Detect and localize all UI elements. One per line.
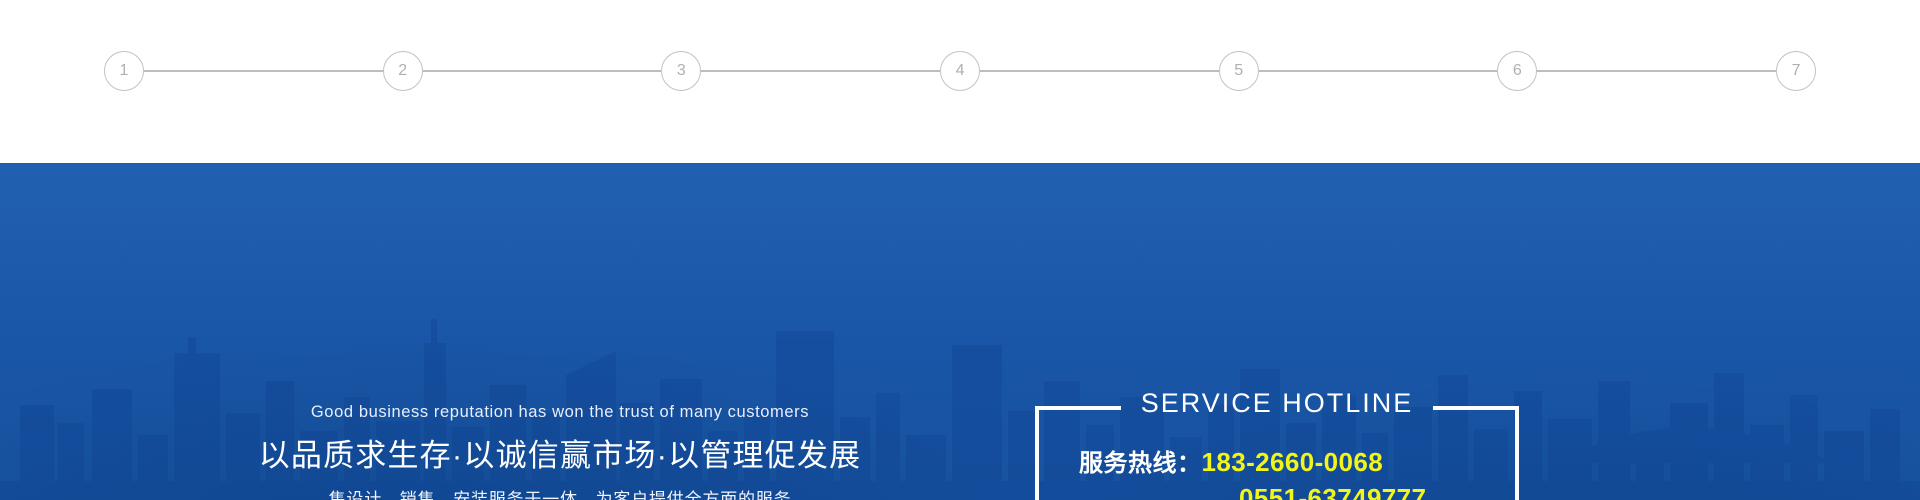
step-item-4[interactable]: 4 [940, 51, 980, 91]
hotline-phone-primary[interactable]: 183-2660-0068 [1202, 448, 1384, 478]
hotline-row-primary: 服务热线： 183-2660-0068 [1035, 448, 1519, 478]
step-item-6[interactable]: 6 [1497, 51, 1537, 91]
promo-banner: Good business reputation has won the tru… [0, 163, 1920, 500]
stepper-section: 1 2 3 4 5 6 7 [0, 0, 1920, 163]
step-connector-4 [980, 70, 1219, 72]
step-connector-6 [1537, 70, 1776, 72]
step-item-3[interactable]: 3 [661, 51, 701, 91]
slogan-chinese-main: 以品质求生存·以诚信赢市场·以管理促发展 [180, 437, 940, 476]
page-root: 1 2 3 4 5 6 7 [0, 0, 1920, 500]
slogan-block: Good business reputation has won the tru… [180, 403, 940, 500]
step-item-2[interactable]: 2 [383, 51, 423, 91]
step-item-7[interactable]: 7 [1776, 51, 1816, 91]
step-connector-2 [423, 70, 662, 72]
step-connector-5 [1259, 70, 1498, 72]
step-connector-3 [701, 70, 940, 72]
step-circle-1[interactable]: 1 [104, 51, 144, 91]
step-connector-1 [144, 70, 383, 72]
step-circle-2[interactable]: 2 [383, 51, 423, 91]
hotline-label: 服务热线： [1079, 450, 1202, 478]
step-item-5[interactable]: 5 [1219, 51, 1259, 91]
step-circle-3[interactable]: 3 [661, 51, 701, 91]
hotline-phone-secondary[interactable]: 0551-63749777 [1239, 484, 1426, 500]
step-item-1[interactable]: 1 [104, 51, 144, 91]
hotline-title: SERVICE HOTLINE [1035, 390, 1519, 417]
hotline-box: SERVICE HOTLINE 服务热线： 183-2660-0068 0551… [1035, 406, 1519, 500]
step-circle-6[interactable]: 6 [1497, 51, 1537, 91]
slogan-chinese-sub: 集设计、销售、安装服务于一体，为客户提供全方面的服务 [180, 490, 940, 500]
step-circle-4[interactable]: 4 [940, 51, 980, 91]
step-circle-7[interactable]: 7 [1776, 51, 1816, 91]
hotline-numbers: 服务热线： 183-2660-0068 0551-63749777 [1035, 448, 1519, 500]
step-circle-5[interactable]: 5 [1219, 51, 1259, 91]
slogan-english: Good business reputation has won the tru… [180, 403, 940, 421]
hotline-row-secondary: 0551-63749777 [1035, 484, 1519, 500]
step-pagination[interactable]: 1 2 3 4 5 6 7 [104, 50, 1816, 92]
